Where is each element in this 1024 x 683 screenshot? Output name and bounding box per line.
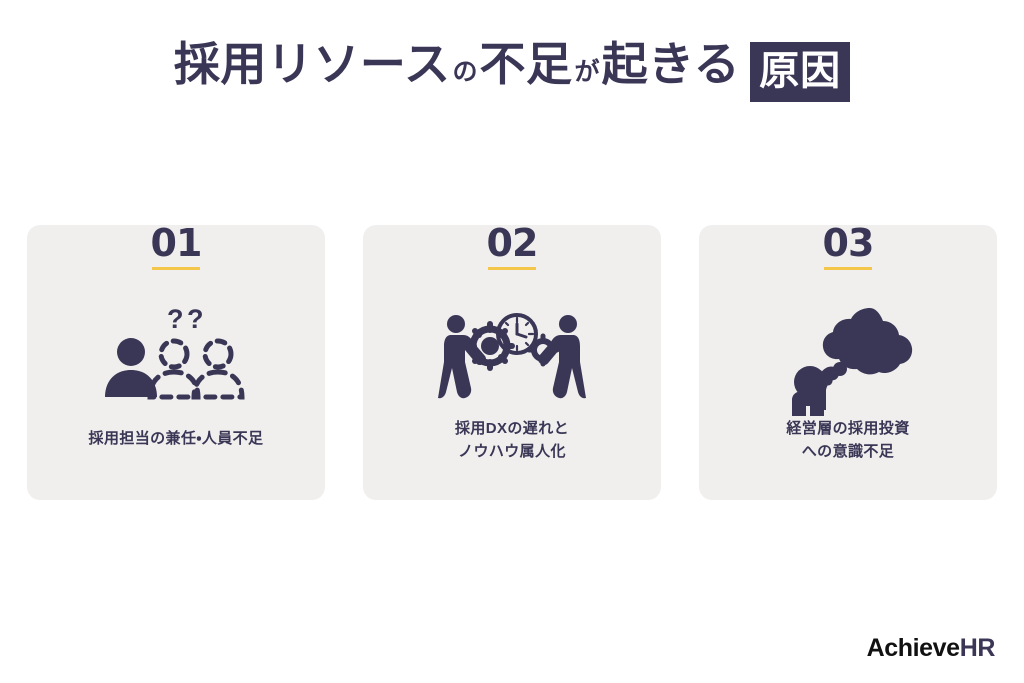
card-01: 01 ? ? 採用担当の兼任・人員不足 xyxy=(27,224,325,500)
card-caption-02: 採用DXの遅れと ノウハウ属人化 xyxy=(441,417,583,464)
cards-row: 01 ? ? 採用担当の兼任・人員不足 xyxy=(0,224,1024,500)
svg-text:?: ? xyxy=(187,304,204,334)
card-underline-01 xyxy=(152,267,200,270)
title-particle-no: の xyxy=(451,60,480,85)
title-segment-3: 起きる xyxy=(602,41,741,87)
logo-text-hr: HR xyxy=(960,636,995,661)
title-badge-genin: 原因 xyxy=(750,42,850,102)
person-thought-bubble-icon xyxy=(778,297,918,417)
logo-text-achieve: Achieve xyxy=(867,636,960,661)
logo-achievehr: AchieveHR xyxy=(867,636,995,661)
page-title: 採用リソース の 不足 が 起きる 原因 xyxy=(0,38,1024,98)
title-particle-ga: が xyxy=(573,60,602,85)
svg-text:?: ? xyxy=(167,304,184,334)
card-underline-03 xyxy=(824,267,872,270)
card-underline-02 xyxy=(488,267,536,270)
gears-clock-people-icon xyxy=(437,297,587,417)
card-number-01: 01 xyxy=(151,224,202,262)
card-caption-01: 採用担当の兼任・人員不足 xyxy=(75,427,278,450)
card-number-02: 02 xyxy=(487,224,538,262)
card-number-03: 03 xyxy=(823,224,874,262)
card-02: 02 xyxy=(363,224,661,500)
title-segment-1: 採用リソース xyxy=(174,41,451,87)
card-caption-03: 経営層の採用投資 への意識不足 xyxy=(772,417,923,464)
people-question-icon: ? ? xyxy=(101,297,251,417)
card-03: 03 xyxy=(699,224,997,500)
title-segment-2: 不足 xyxy=(480,41,573,87)
